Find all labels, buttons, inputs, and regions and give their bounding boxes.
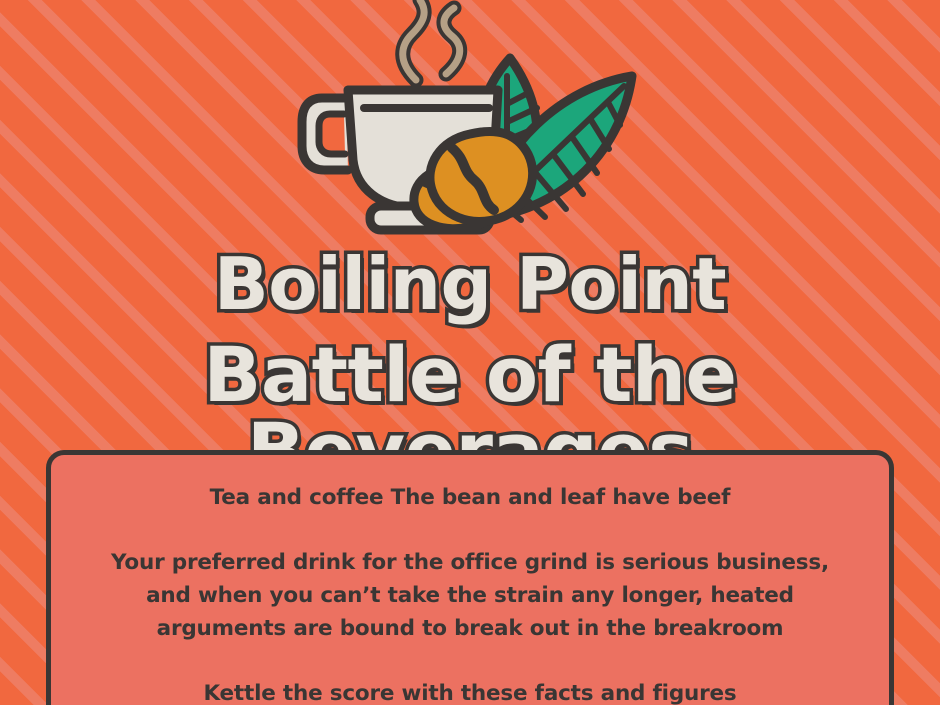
intro-text-panel: Tea and coffee The bean and leaf have be… (46, 450, 894, 705)
steam-swirl-icon (403, 0, 460, 80)
intro-paragraph-3: Kettle the score with these facts and fi… (91, 677, 849, 705)
infographic-poster: Boiling Point Battle of the Beverages Te… (0, 0, 940, 705)
paragraph-spacer (91, 645, 849, 677)
intro-paragraph-2: Your preferred drink for the office grin… (91, 546, 849, 645)
intro-paragraph-1: Tea and coffee The bean and leaf have be… (91, 481, 849, 514)
hero-illustration (0, 0, 940, 246)
poster-title-line-1: Boiling Point (0, 248, 940, 320)
paragraph-spacer (91, 514, 849, 546)
